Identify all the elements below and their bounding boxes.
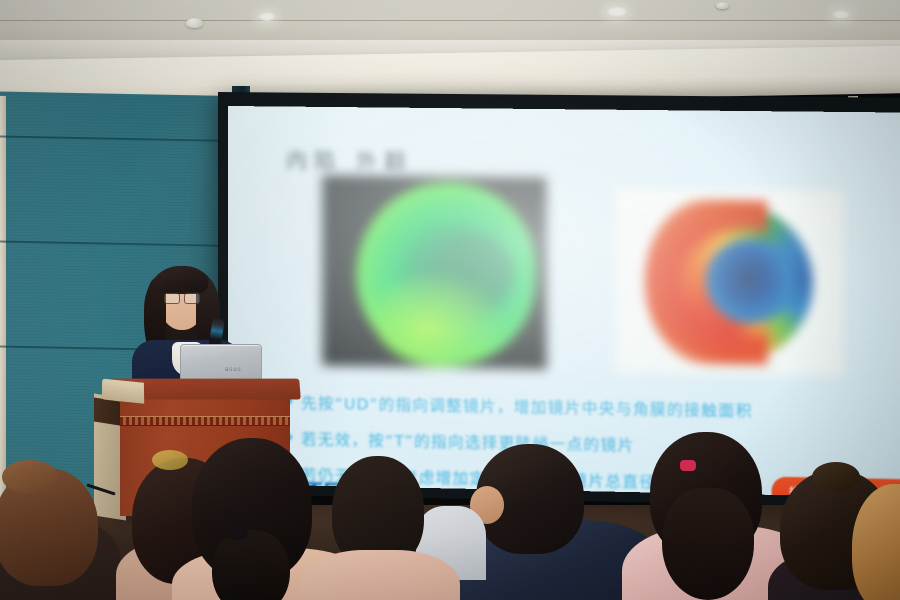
ceiling-backplane [0,0,900,42]
smoke-detector-icon [716,2,729,9]
fluorescein-pattern-image [322,175,546,369]
topography-red-arc [644,199,767,365]
audience-hair-bun [812,462,860,492]
ceiling-seam [0,20,900,21]
downlight-icon [606,6,628,17]
audience-long-hair [662,488,754,600]
bullet-text: 先按“UD”的指向调整镜片，增加镜片中央与角膜的接触面积 [301,391,753,421]
speaker-hair-fringe [156,268,208,294]
laptop-brand-mark: asus [225,367,242,373]
corneal-topography-map [616,189,844,377]
audience-ponytail [212,530,290,600]
smoke-detector-icon [186,18,203,28]
downlight-icon [258,12,276,21]
presentation-photo: 内陷 外翻 先按“UD”的指向调整镜片，增加镜片中央与角膜的接触面积 若无效，按… [0,0,900,600]
downlight-icon [832,10,850,19]
hair-clip-icon [152,450,188,470]
hair-tie-icon [226,528,248,540]
audience-hair-bun [2,460,58,494]
audience-member-shoulders [300,550,460,600]
audience [0,420,900,600]
laptop-lid: asus [180,344,262,382]
podium-top-left-edge [102,379,144,404]
slide-title: 内陷 外翻 [286,145,412,177]
speaker-glasses [164,292,200,301]
hair-tie-icon [680,460,696,471]
